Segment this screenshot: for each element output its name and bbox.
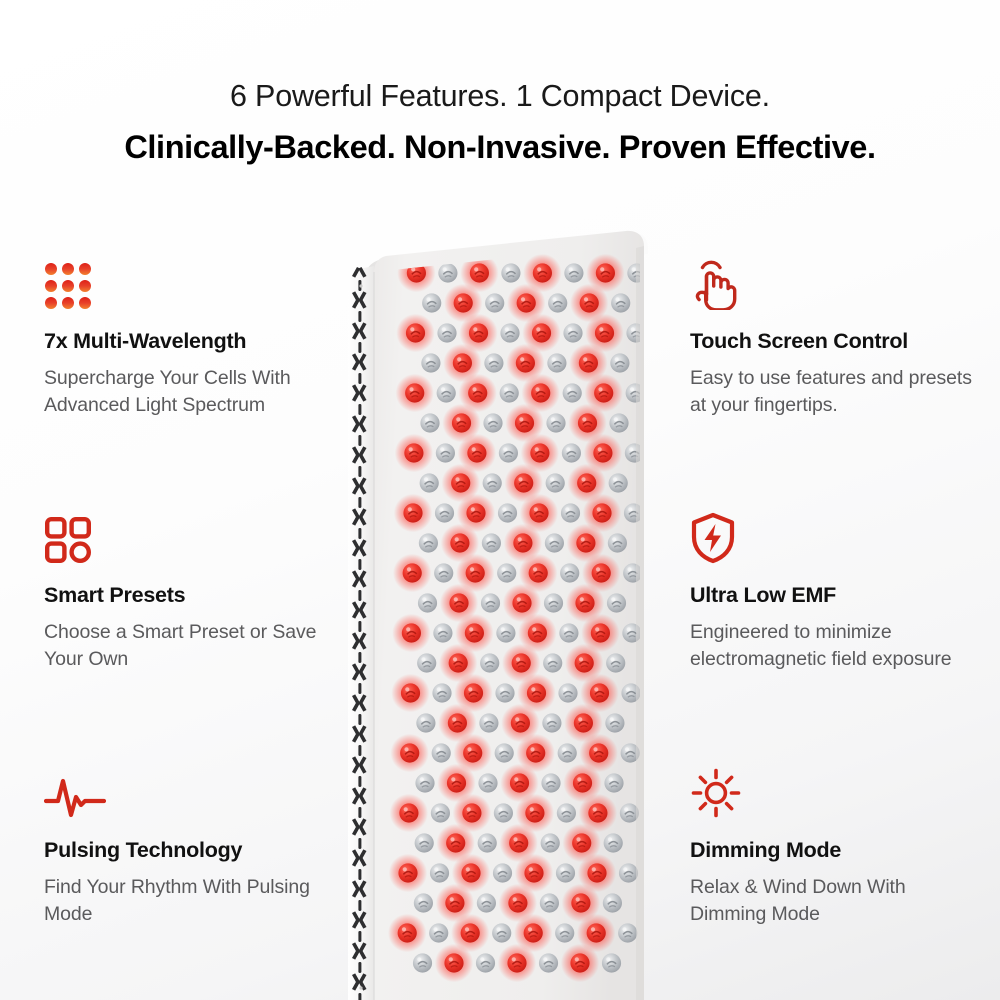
feature-title: Smart Presets: [44, 583, 344, 608]
feature-description: Find Your Rhythm With Pulsing Mode: [44, 874, 329, 929]
headline-block: 6 Powerful Features. 1 Compact Device. C…: [0, 78, 1000, 168]
feature-multi-wavelength: 7x Multi-Wavelength Supercharge Your Cel…: [44, 252, 344, 420]
feature-pulsing-technology: Pulsing Technology Find Your Rhythm With…: [44, 761, 344, 929]
shield-bolt-icon: [690, 506, 990, 564]
red-light-therapy-device: [340, 228, 670, 1000]
feature-description: Engineered to minimize electromagnetic f…: [690, 619, 975, 674]
feature-dimming-mode: Dimming Mode Relax & Wind Down With Dimm…: [690, 761, 990, 929]
presets-grid-icon: [44, 506, 344, 564]
feature-title: 7x Multi-Wavelength: [44, 329, 344, 354]
feature-title: Dimming Mode: [690, 838, 990, 863]
pulse-wave-icon: [44, 761, 344, 819]
headline-line-1: 6 Powerful Features. 1 Compact Device.: [0, 78, 1000, 115]
feature-description: Easy to use features and presets at your…: [690, 365, 975, 420]
feature-description: Relax & Wind Down With Dimming Mode: [690, 874, 975, 929]
touch-hand-icon: [690, 252, 990, 310]
feature-title: Pulsing Technology: [44, 838, 344, 863]
feature-description: Supercharge Your Cells With Advanced Lig…: [44, 365, 329, 420]
infographic-page: 6 Powerful Features. 1 Compact Device. C…: [0, 0, 1000, 1000]
feature-touch-screen-control: Touch Screen Control Easy to use feature…: [690, 252, 990, 420]
feature-title: Ultra Low EMF: [690, 583, 990, 608]
device-illustration: [340, 228, 670, 1000]
dot-grid-icon: [44, 252, 344, 310]
feature-title: Touch Screen Control: [690, 329, 990, 354]
headline-line-2: Clinically-Backed. Non-Invasive. Proven …: [0, 128, 1000, 168]
sun-icon: [690, 761, 990, 819]
feature-smart-presets: Smart Presets Choose a Smart Preset or S…: [44, 506, 344, 674]
feature-description: Choose a Smart Preset or Save Your Own: [44, 619, 329, 674]
feature-ultra-low-emf: Ultra Low EMF Engineered to minimize ele…: [690, 506, 990, 674]
